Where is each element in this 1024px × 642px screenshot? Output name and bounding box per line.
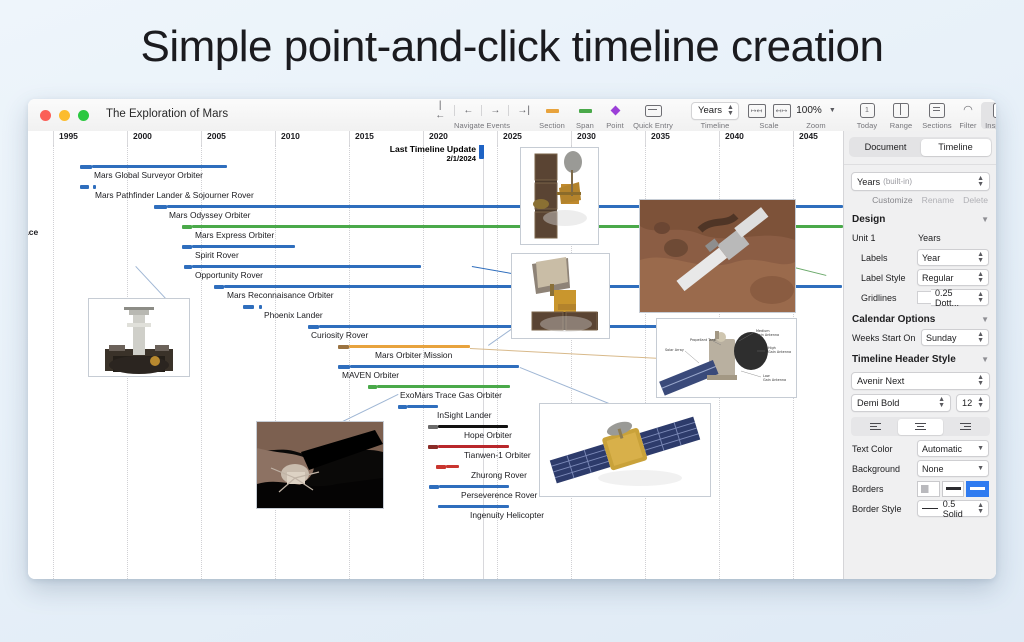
svg-text:Propellant Tank: Propellant Tank (690, 338, 716, 342)
stepper-icon: ▲▼ (727, 105, 734, 117)
ruler-tick (793, 131, 794, 145)
ruler-year-label: 2000 (133, 131, 152, 141)
gridline (53, 145, 54, 579)
toolbar-group-scale[interactable]: ↦↤ ↤↦ Scale (746, 102, 792, 130)
mars-express-orbiter-photo[interactable] (511, 253, 610, 339)
divider (844, 164, 996, 165)
ruler-tick (275, 131, 276, 145)
timeline-preset-suffix: (built-in) (883, 177, 912, 186)
ruler-year-label: 2015 (355, 131, 374, 141)
text-align-group[interactable] (851, 417, 990, 436)
event-bar (377, 385, 510, 388)
event-bar (92, 165, 227, 168)
timeline-unit-value: Years (698, 105, 722, 116)
maven-orbiter-photo[interactable] (539, 403, 711, 497)
event-cap (338, 365, 350, 369)
sections-icon[interactable] (929, 103, 945, 118)
event-bar (192, 265, 421, 268)
toolbar-group-today[interactable]: 1 Today (850, 102, 884, 130)
toolbar-label-range: Range (883, 121, 919, 130)
stepper-icon: ▲▼ (977, 375, 984, 387)
background-label: Background (852, 464, 900, 474)
event-label: MAVEN Orbiter (342, 370, 399, 380)
inspector-tabs[interactable]: Document Timeline (849, 137, 992, 157)
toolbar-label-span: Span (569, 121, 601, 130)
gridline-color-swatch[interactable] (917, 291, 931, 304)
header-style-label: Timeline Header Style (852, 354, 956, 365)
toolbar-group-quick-entry[interactable]: Quick Entry (626, 102, 680, 130)
stepper-icon: ▲▼ (938, 397, 945, 409)
ruler-year-label: 2030 (577, 131, 596, 141)
ruler-year-label: 2010 (281, 131, 300, 141)
stepper-icon: ▲▼ (977, 292, 984, 304)
svg-text:Gain Antenna: Gain Antenna (763, 378, 786, 382)
ruler-year-label: 2035 (651, 131, 670, 141)
event-cap (243, 305, 254, 309)
ruler-tick (127, 131, 128, 145)
toolbar-group-navigate-events: |← ← → →| Navigate Events (433, 102, 531, 130)
event-bar (349, 345, 470, 348)
event-bar (438, 505, 509, 508)
rover-image (89, 299, 189, 376)
event-bar (446, 465, 459, 468)
event-cap (429, 485, 439, 489)
font-family-value: Avenir Next (857, 376, 904, 386)
toolbar-label-navigate-events: Navigate Events (433, 121, 531, 130)
event-bar (438, 425, 508, 428)
header-style-section-header[interactable]: Timeline Header Style ▼ (852, 354, 989, 365)
document-title: The Exploration of Mars (106, 108, 228, 120)
unit-label: Unit 1 (852, 233, 876, 243)
toolbar-group-span[interactable]: Span (569, 102, 601, 130)
gridlines-value: 0.25 Dott... (935, 288, 977, 308)
toolbar-divider (454, 105, 455, 116)
ruler-tick (423, 131, 424, 145)
timeline-preset-value: Years (857, 177, 880, 187)
event-bar (192, 245, 295, 248)
toolbar-label-quick-entry: Quick Entry (626, 121, 680, 130)
event-label: Curiosity Rover (311, 330, 368, 340)
toolbar-group-zoom[interactable]: 100% ▼ Zoom (793, 102, 839, 130)
chevron-down-icon[interactable]: ▼ (981, 355, 989, 364)
maximize-button[interactable] (78, 110, 89, 121)
borders-label: Borders (852, 484, 884, 494)
event-cap (182, 225, 192, 229)
align-right-icon (960, 422, 971, 431)
gridline (349, 145, 350, 579)
border-style-row[interactable]: Border Style 0.5 Solid ▲▼ (852, 501, 989, 516)
ruler-year-label: 1995 (59, 131, 78, 141)
nav-last-icon[interactable]: →| (516, 106, 531, 116)
event-cap (308, 325, 319, 329)
event-cap (182, 245, 192, 249)
event-label: Zhurong Rover (471, 470, 527, 480)
toolbar-group-timeline[interactable]: Years ▲▼ Timeline (687, 102, 743, 130)
chevron-down-icon[interactable]: ▼ (981, 315, 989, 324)
event-bar (439, 485, 509, 488)
maven-image (540, 404, 710, 496)
weeks-start-select[interactable]: Sunday ▲▼ (921, 329, 989, 346)
labels-value: Year (922, 253, 940, 263)
gridlines-select[interactable]: 0.25 Dott... ▲▼ (931, 289, 989, 306)
inspector-panel: Document Timeline Years (built-in) ▲▼ Cu… (843, 131, 996, 579)
event-label: Mars Pathfinder Lander & Sojourner Rover (95, 190, 254, 200)
ruler-year-label: 2040 (725, 131, 744, 141)
event-cap (80, 185, 89, 189)
toolbar-group-inspector[interactable]: Inspector (981, 102, 996, 129)
ruler-tick (571, 131, 572, 145)
event-cap (436, 465, 446, 469)
page-title: Simple point-and-click timeline creation (0, 22, 1024, 72)
stepper-icon: ▲▼ (977, 176, 984, 188)
timeline-unit-select[interactable]: Years ▲▼ (691, 102, 739, 120)
stepper-icon: ▲▼ (977, 397, 984, 409)
border-style-select[interactable]: 0.5 Solid ▲▼ (917, 500, 989, 517)
ruler-tick (497, 131, 498, 145)
toolbar-group-section[interactable]: Section (533, 102, 571, 130)
font-weight-select[interactable]: Demi Bold ▲▼ (851, 394, 951, 412)
event-label: Opportunity Rover (195, 270, 263, 280)
mom-diagram: MediumGain Antenna HighGain Antenna LowG… (657, 319, 796, 397)
text-color-row[interactable]: Text Color Automatic ▼ (852, 441, 989, 456)
stepper-icon: ▲▼ (977, 332, 984, 344)
event-cap (154, 205, 167, 209)
toolbar-group-range[interactable]: Range (883, 102, 919, 130)
align-center-icon (915, 422, 926, 431)
design-labels-row[interactable]: Labels Year ▲▼ (852, 250, 989, 265)
background-row[interactable]: Background None ▼ (852, 461, 989, 476)
chevron-down-icon: ▼ (829, 107, 836, 114)
toolbar-divider (481, 105, 482, 116)
event-label: Phoenix Lander (264, 310, 323, 320)
background-value: None (922, 464, 944, 474)
ruler-year-label: 2005 (207, 131, 226, 141)
text-color-value: Automatic (922, 444, 962, 454)
mars-odyssey-orbiter-photo[interactable] (520, 147, 599, 245)
stepper-icon: ▲▼ (977, 503, 984, 515)
mars-reconnaissance-orbiter-photo[interactable] (639, 199, 796, 313)
scale-shrink-icon[interactable]: ↦↤ (748, 104, 766, 118)
gridline (275, 145, 276, 579)
quick-entry-icon[interactable] (645, 105, 662, 117)
close-button[interactable] (40, 110, 51, 121)
event-label: Mars Express Orbiter (195, 230, 274, 240)
text-color-label: Text Color (852, 444, 893, 454)
borders-row[interactable]: Borders (852, 481, 989, 496)
toolbar-group-sections[interactable]: Sections (916, 102, 958, 130)
unit-value: Years (917, 233, 941, 243)
label-style-select[interactable]: Regular ▲▼ (917, 269, 989, 286)
clipped-section-label: ace (28, 227, 38, 237)
chevron-down-icon[interactable]: ▼ (981, 215, 989, 224)
border-style-value: 0.5 Solid (943, 499, 977, 519)
event-label: Hope Orbiter (464, 430, 512, 440)
label-style-value: Regular (922, 273, 954, 283)
range-icon[interactable] (893, 103, 909, 118)
design-section-header[interactable]: Design ▼ (852, 214, 989, 225)
stepper-icon: ▲▼ (977, 252, 984, 264)
toolbar-group-filter[interactable]: ◜◝ Filter (953, 102, 983, 130)
calendar-section-header[interactable]: Calendar Options ▼ (852, 314, 989, 325)
ruler-year-label: 2020 (429, 131, 448, 141)
font-weight-value: Demi Bold (857, 398, 899, 408)
span-swatch-icon[interactable] (579, 109, 592, 113)
event-cap (214, 285, 224, 289)
svg-text:Solar Array: Solar Array (665, 348, 684, 352)
toolbar-label-inspector: Inspector (981, 121, 996, 130)
event-label: Ingenuity Helicopter (470, 510, 544, 520)
opportunity-rover-photo[interactable] (88, 298, 190, 377)
window-titlebar: The Exploration of Mars |← ← → →| Naviga… (28, 99, 996, 132)
toolbar-label-filter: Filter (953, 121, 983, 130)
event-cap (428, 425, 438, 429)
align-left-button[interactable] (853, 419, 898, 435)
event-cap (398, 405, 407, 409)
event-bar (407, 405, 438, 408)
event-bar (438, 445, 509, 448)
event-label: ExoMars Trace Gas Orbiter (400, 390, 502, 400)
orbiter-image (521, 148, 598, 244)
gridline (423, 145, 424, 579)
event-label: Mars Global Surveyor Orbiter (94, 170, 203, 180)
border-none-button[interactable] (917, 481, 940, 497)
toolbar-label-sections: Sections (916, 121, 958, 130)
event-label: Mars Reconnaisance Orbiter (227, 290, 334, 300)
last-update-marker (479, 145, 484, 159)
ruler-year-label: 2025 (503, 131, 522, 141)
ruler-tick (349, 131, 350, 145)
minimize-button[interactable] (59, 110, 70, 121)
event-label: Tianwen-1 Orbiter (464, 450, 531, 460)
event-label: Spirit Rover (195, 250, 239, 260)
nav-first-icon[interactable]: |← (433, 101, 447, 121)
event-label: Mars Odyssey Orbiter (169, 210, 250, 220)
border-line-preview-icon (922, 508, 938, 509)
toolbar-label-today: Today (850, 121, 884, 130)
event-label: Perseverence Rover (461, 490, 537, 500)
background-select[interactable]: None ▼ (917, 460, 989, 477)
toolbar-label-scale: Scale (746, 121, 792, 130)
font-size-field[interactable]: 12 ▲▼ (956, 394, 990, 412)
align-right-button[interactable] (943, 419, 988, 435)
border-bottom-button[interactable] (942, 481, 965, 497)
ruler-tick (53, 131, 54, 145)
labels-select[interactable]: Year ▲▼ (917, 249, 989, 266)
ruler-tick (201, 131, 202, 145)
border-style-label: Border Style (852, 504, 902, 514)
stepper-icon: ▲▼ (977, 272, 984, 284)
inspector-icon[interactable] (993, 103, 996, 118)
app-window: The Exploration of Mars |← ← → →| Naviga… (28, 99, 996, 579)
toolbar-label-section: Section (533, 121, 571, 130)
last-update-date: 2/1/2024 (358, 154, 476, 163)
last-update-title: Last Timeline Update (358, 145, 476, 154)
event-point (259, 305, 262, 309)
labels-label: Labels (861, 253, 888, 263)
calendar-header-label: Calendar Options (852, 314, 935, 325)
design-gridlines-row[interactable]: Gridlines 0.25 Dott... ▲▼ (852, 290, 989, 305)
mars-orbiter-mission-diagram[interactable]: MediumGain Antenna HighGain Antenna LowG… (656, 318, 797, 398)
weeks-start-label: Weeks Start On (852, 333, 915, 343)
ingenuity-helicopter-photo[interactable] (256, 421, 384, 509)
svg-text:Gain Antenna: Gain Antenna (768, 350, 791, 354)
border-none-icon (921, 485, 936, 493)
border-all-button[interactable] (966, 481, 989, 497)
section-swatch-icon[interactable] (546, 109, 559, 113)
rename-button: Rename (922, 195, 954, 205)
filter-icon[interactable]: ◜◝ (964, 105, 973, 116)
event-cap (80, 165, 92, 169)
weeks-start-value: Sunday (926, 333, 957, 343)
toolbar-label-timeline: Timeline (687, 121, 743, 130)
align-center-button[interactable] (898, 419, 943, 435)
design-header-label: Design (852, 214, 885, 225)
express-image (512, 254, 609, 338)
weeks-start-row[interactable]: Weeks Start On Sunday ▲▼ (852, 330, 989, 345)
delete-button: Delete (963, 195, 988, 205)
event-cap (184, 265, 192, 269)
event-label: InSight Lander (437, 410, 491, 420)
svg-text:Gain Antenna: Gain Antenna (756, 333, 779, 337)
chevron-down-icon: ▼ (977, 445, 984, 452)
scale-expand-icon[interactable]: ↤↦ (773, 104, 791, 118)
font-family-row[interactable]: Avenir Next ▲▼ Demi Bold ▲▼ 12 ▲▼ (851, 372, 990, 412)
ruler-tick (645, 131, 646, 145)
border-bottom-icon (946, 487, 961, 490)
label-style-label: Label Style (861, 273, 906, 283)
event-cap (428, 445, 438, 449)
event-label: Mars Orbiter Mission (375, 350, 452, 360)
design-unit-row: Unit 1 Years (852, 230, 989, 245)
point-diamond-icon[interactable] (610, 106, 620, 116)
font-size-value: 12 (962, 398, 972, 408)
mro-image (640, 200, 795, 312)
gridlines-label: Gridlines (861, 293, 897, 303)
chevron-down-icon: ▼ (977, 465, 984, 472)
preset-buttons: Customize Rename Delete (853, 195, 988, 205)
today-calendar-icon[interactable]: 1 (860, 103, 875, 118)
text-color-select[interactable]: Automatic ▼ (917, 440, 989, 457)
toolbar-divider (508, 105, 509, 116)
border-buttons[interactable] (917, 481, 989, 497)
event-bar (350, 365, 519, 368)
tab-document[interactable]: Document (851, 139, 921, 156)
ingenuity-image (257, 422, 383, 508)
ruler-year-label: 2045 (799, 131, 818, 141)
align-left-icon (870, 422, 881, 431)
last-timeline-update[interactable]: Last Timeline Update 2/1/2024 (358, 145, 476, 163)
timeline-preset-select[interactable]: Years (built-in) ▲▼ (851, 172, 990, 191)
toolbar-label-zoom: Zoom (793, 121, 839, 130)
font-family-select[interactable]: Avenir Next ▲▼ (851, 372, 990, 390)
event-cap (368, 385, 377, 389)
customize-button[interactable]: Customize (872, 195, 913, 205)
event-cap (338, 345, 349, 349)
zoom-level-value[interactable]: 100% (796, 105, 822, 116)
window-controls (40, 110, 89, 121)
nav-next-icon[interactable]: → (489, 106, 501, 116)
nav-prev-icon[interactable]: ← (462, 106, 474, 116)
ruler-tick (719, 131, 720, 145)
design-label-style-row[interactable]: Label Style Regular ▲▼ (852, 270, 989, 285)
border-all-icon (970, 487, 985, 490)
tab-timeline[interactable]: Timeline (921, 139, 991, 156)
event-point (93, 185, 96, 189)
